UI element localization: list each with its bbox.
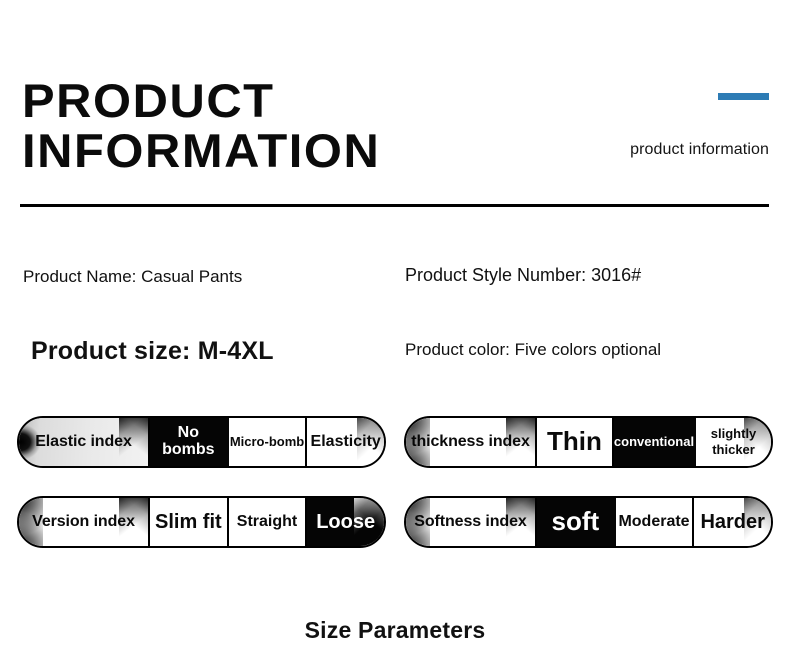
index-bar-elastic-label: Elastic index [19, 418, 150, 466]
index-bar-thickness-option-2[interactable]: slightly thicker [696, 418, 771, 466]
index-bar-elastic-option-1[interactable]: Micro-bomb [229, 418, 308, 466]
index-bar-version-option-0[interactable]: Slim fit [150, 498, 229, 546]
index-bar-thickness-option-0[interactable]: Thin [537, 418, 614, 466]
index-bar-elastic-option-2[interactable]: Elasticity [307, 418, 384, 466]
size-parameters-heading: Size Parameters [0, 617, 790, 644]
index-bar-thickness-option-1[interactable]: conventional [614, 418, 696, 466]
index-bar-version-label: Version index [19, 498, 150, 546]
index-bar-softness: Softness index soft Moderate Harder [404, 496, 773, 548]
index-bar-softness-option-1[interactable]: Moderate [616, 498, 695, 546]
index-bar-thickness-label: thickness index [406, 418, 537, 466]
index-bar-version-option-2[interactable]: Loose [307, 498, 384, 546]
index-bar-version-option-1[interactable]: Straight [229, 498, 308, 546]
index-bar-version: Version index Slim fit Straight Loose [17, 496, 386, 548]
index-bar-softness-label: Softness index [406, 498, 537, 546]
index-bar-thickness: thickness index Thin conventional slight… [404, 416, 773, 468]
index-bar-elastic: Elastic index No bombs Micro-bomb Elasti… [17, 416, 386, 468]
index-bar-softness-option-0[interactable]: soft [537, 498, 616, 546]
index-bars-group: Elastic index No bombs Micro-bomb Elasti… [0, 0, 790, 659]
index-bar-elastic-option-0[interactable]: No bombs [150, 418, 229, 466]
index-bar-softness-option-2[interactable]: Harder [694, 498, 771, 546]
